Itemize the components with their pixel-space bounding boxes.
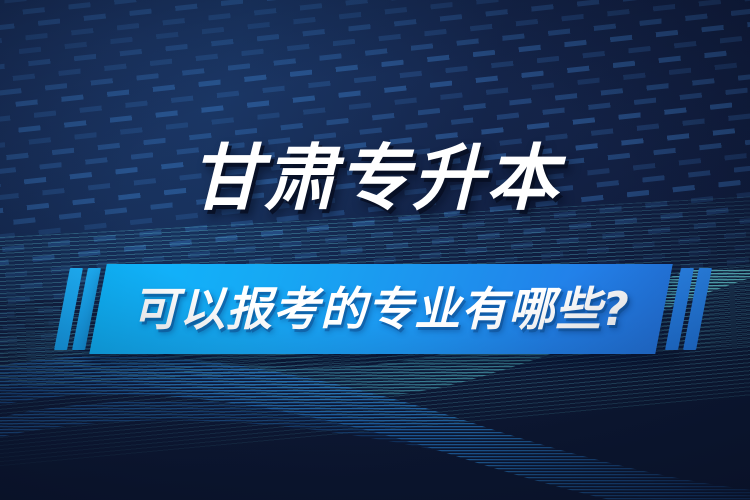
promo-banner-poster: 甘肃专升本 可以报考的专业有哪些? (0, 0, 750, 500)
vignette-overlay (0, 0, 750, 500)
